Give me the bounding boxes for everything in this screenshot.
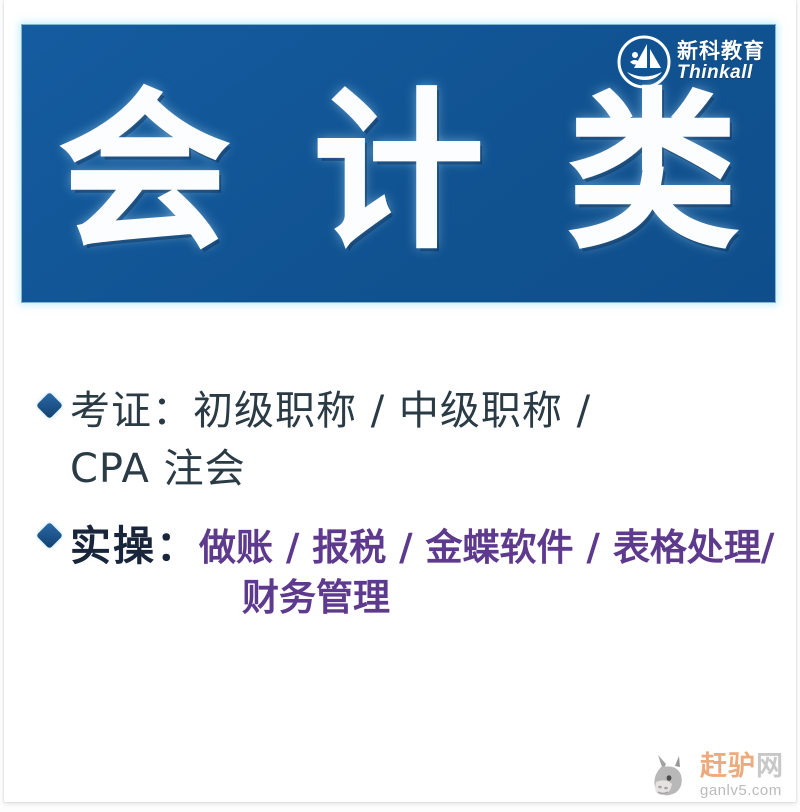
practical-label: 实操： [70, 512, 199, 572]
page-title: 会 计 类 [22, 97, 775, 250]
watermark-text: 赶驴网 ganlv5.com [700, 753, 784, 798]
diamond-bullet-icon [36, 522, 63, 549]
list-item-certification: 考证：初级职称 / 中级职称 / CPA 注会 [40, 382, 770, 498]
practical-line-2: 财务管理 [70, 573, 770, 623]
headline-char-1: 会 [59, 97, 229, 250]
watermark-url: ganlv5.com [700, 783, 784, 798]
brand-name-cn: 新科教育 [677, 41, 765, 62]
headline-char-2: 计 [313, 97, 483, 250]
watermark-brand-suffix: 网 [756, 751, 784, 782]
diamond-bullet-icon [36, 392, 63, 419]
donkey-head-icon [649, 754, 695, 798]
practical-items-line1: 做账 / 报税 / 金蝶软件 / 表格处理/ [199, 523, 774, 573]
course-list: 考证：初级职称 / 中级职称 / CPA 注会 实操：做账 / 报税 / 金蝶软… [40, 382, 770, 623]
watermark-brand: 赶驴网 [700, 753, 784, 780]
title-banner: 新科教育 Thinkall 会 计 类 [22, 25, 775, 302]
certification-line-2: CPA 注会 [70, 440, 770, 498]
practical-content: 实操：做账 / 报税 / 金蝶软件 / 表格处理/ 财务管理 [70, 512, 770, 623]
watermark: 赶驴网 ganlv5.com [649, 753, 784, 798]
watermark-brand-prefix: 赶驴 [700, 751, 756, 782]
practical-line-1: 实操：做账 / 报税 / 金蝶软件 / 表格处理/ [70, 512, 770, 573]
certification-items-line1: 初级职称 / 中级职称 / [193, 388, 591, 434]
poster-canvas: 新科教育 Thinkall 会 计 类 考证：初级职称 / 中级职称 / CPA… [0, 0, 800, 812]
certification-line-1: 考证：初级职称 / 中级职称 / [70, 382, 770, 440]
list-item-practical: 实操：做账 / 报税 / 金蝶软件 / 表格处理/ 财务管理 [40, 512, 770, 623]
certification-content: 考证：初级职称 / 中级职称 / CPA 注会 [70, 382, 770, 498]
headline-char-3: 类 [568, 97, 738, 250]
certification-label: 考证： [70, 388, 193, 434]
